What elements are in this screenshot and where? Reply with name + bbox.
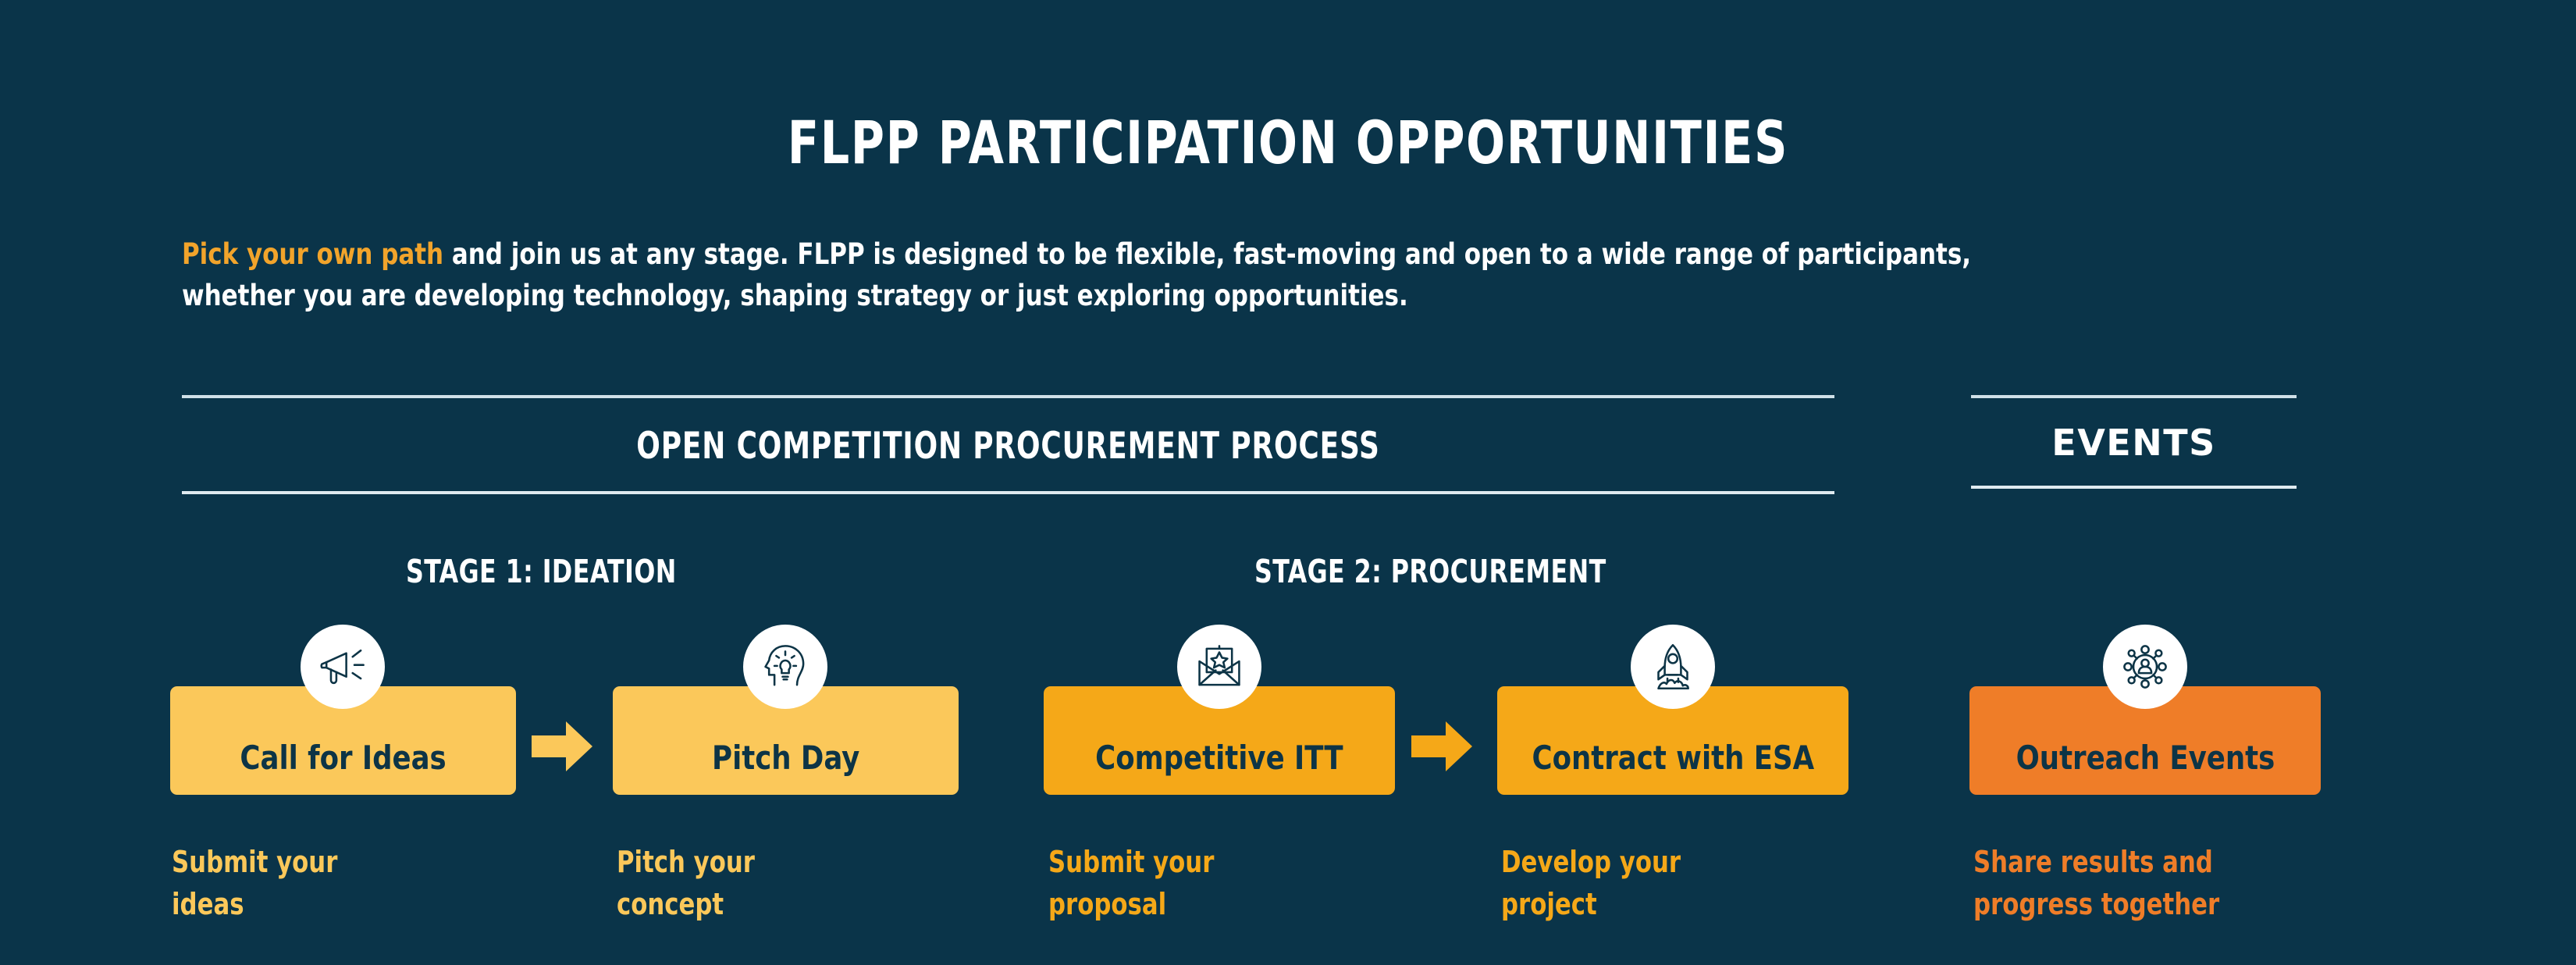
card-label: Pitch Day: [712, 742, 859, 795]
infographic-canvas: FLPP PARTICIPATION OPPORTUNITIES Pick yo…: [0, 0, 2576, 965]
card-label: Competitive ITT: [1095, 742, 1343, 795]
arrow-right-icon: [1411, 719, 1472, 774]
card-label: Call for Ideas: [240, 742, 446, 795]
megaphone-icon: [301, 625, 385, 709]
network-people-icon: [2103, 625, 2187, 709]
section-header-events: EVENTS: [1971, 395, 2297, 489]
caption-call-for-ideas: Submit your ideas: [172, 842, 337, 926]
section-label-procurement: OPEN COMPETITION PROCUREMENT PROCESS: [306, 398, 1710, 491]
divider-bottom: [1971, 486, 2297, 489]
page-subtitle: Pick your own path and join us at any st…: [182, 234, 2157, 316]
subtitle-line2: whether you are developing technology, s…: [182, 279, 1408, 312]
rocket-icon: [1631, 625, 1715, 709]
caption-contract-with-esa: Develop your project: [1501, 842, 1681, 926]
card-label: Contract with ESA: [1532, 742, 1814, 795]
envelope-star-icon: [1177, 625, 1261, 709]
head-lightbulb-icon: [743, 625, 827, 709]
stage-1-label: STAGE 1: IDEATION: [406, 556, 677, 588]
page-title: FLPP PARTICIPATION OPPORTUNITIES: [180, 113, 2396, 173]
caption-outreach-events: Share results and progress together: [1973, 842, 2219, 926]
arrow-right-icon: [532, 719, 592, 774]
subtitle-highlight: Pick your own path: [182, 237, 443, 271]
divider-bottom: [182, 491, 1834, 494]
stage-2-label: STAGE 2: PROCUREMENT: [1254, 556, 1606, 588]
section-header-procurement: OPEN COMPETITION PROCUREMENT PROCESS: [182, 395, 1834, 494]
caption-competitive-itt: Submit your proposal: [1048, 842, 1214, 926]
caption-pitch-day: Pitch your concept: [617, 842, 755, 926]
card-label: Outreach Events: [2016, 742, 2275, 795]
subtitle-line1-rest: and join us at any stage. FLPP is design…: [443, 237, 1971, 271]
section-label-events: EVENTS: [1971, 398, 2297, 486]
